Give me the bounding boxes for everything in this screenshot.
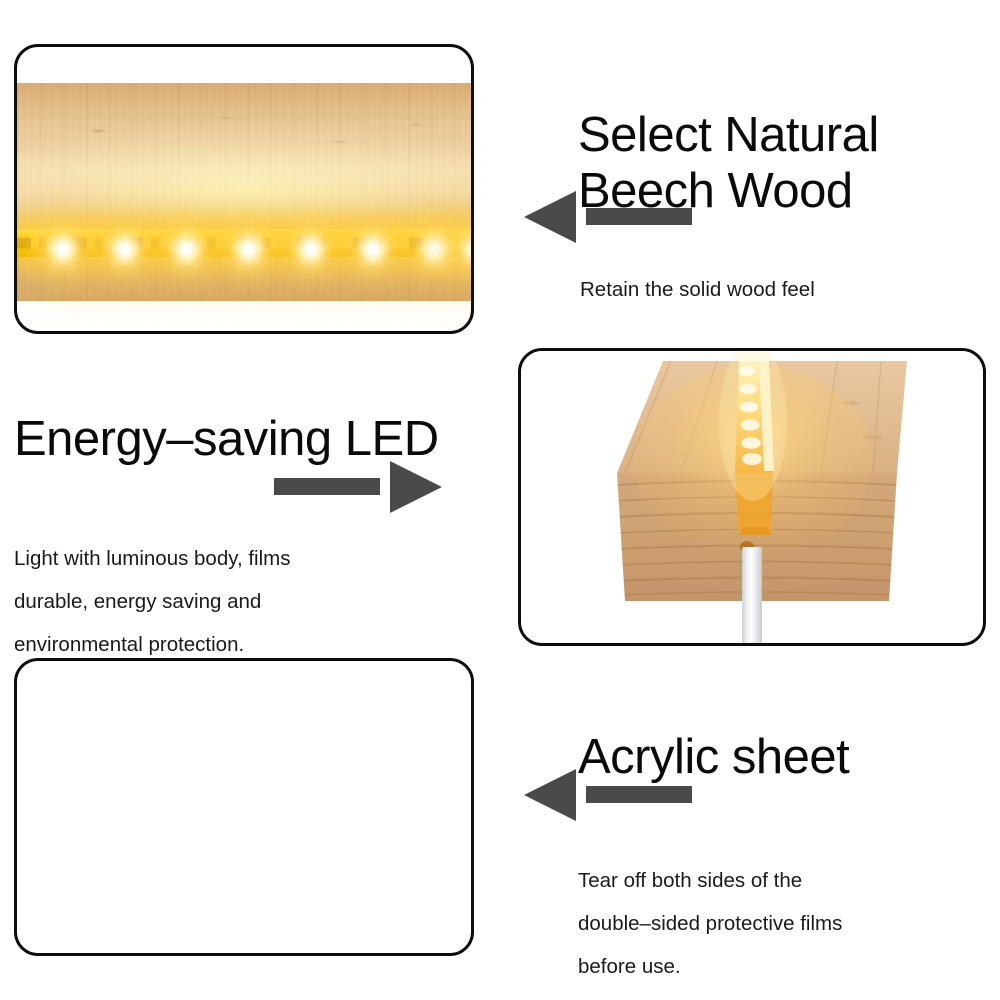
led-dot — [367, 243, 379, 255]
headline-energy-saving-led: Energy–saving LED — [14, 411, 439, 467]
subtext-acrylic-sheet: Tear off both sides of the double–sided … — [578, 859, 842, 988]
led-dot — [305, 243, 317, 255]
led-dot — [243, 243, 255, 255]
power-cable — [742, 547, 762, 643]
hands-peeling-protective-film-photo — [14, 658, 474, 956]
led-dot — [181, 243, 193, 255]
photo-clip — [17, 661, 471, 953]
wood-base-block-with-lit-slot-photo — [518, 348, 986, 646]
subtext-beech-wood: Retain the solid wood feel — [580, 277, 815, 303]
led-dot — [119, 243, 131, 255]
arrow-right-led — [266, 458, 446, 521]
infographic-canvas: Select Natural Beech Wood Retain the sol… — [0, 0, 1000, 1000]
white-backdrop — [17, 661, 471, 953]
led-dot — [57, 243, 69, 255]
headline-beech-wood: Select Natural Beech Wood — [578, 107, 879, 219]
headline-acrylic-sheet: Acrylic sheet — [578, 729, 849, 785]
led-dot — [429, 243, 441, 255]
arrow-right-icon — [266, 458, 446, 516]
led-strip-on-beech-plank-photo — [14, 44, 474, 334]
subtext-energy-saving-led: Light with luminous body, films durable,… — [14, 537, 291, 666]
photo-clip — [521, 351, 983, 643]
photo-clip — [17, 47, 471, 331]
